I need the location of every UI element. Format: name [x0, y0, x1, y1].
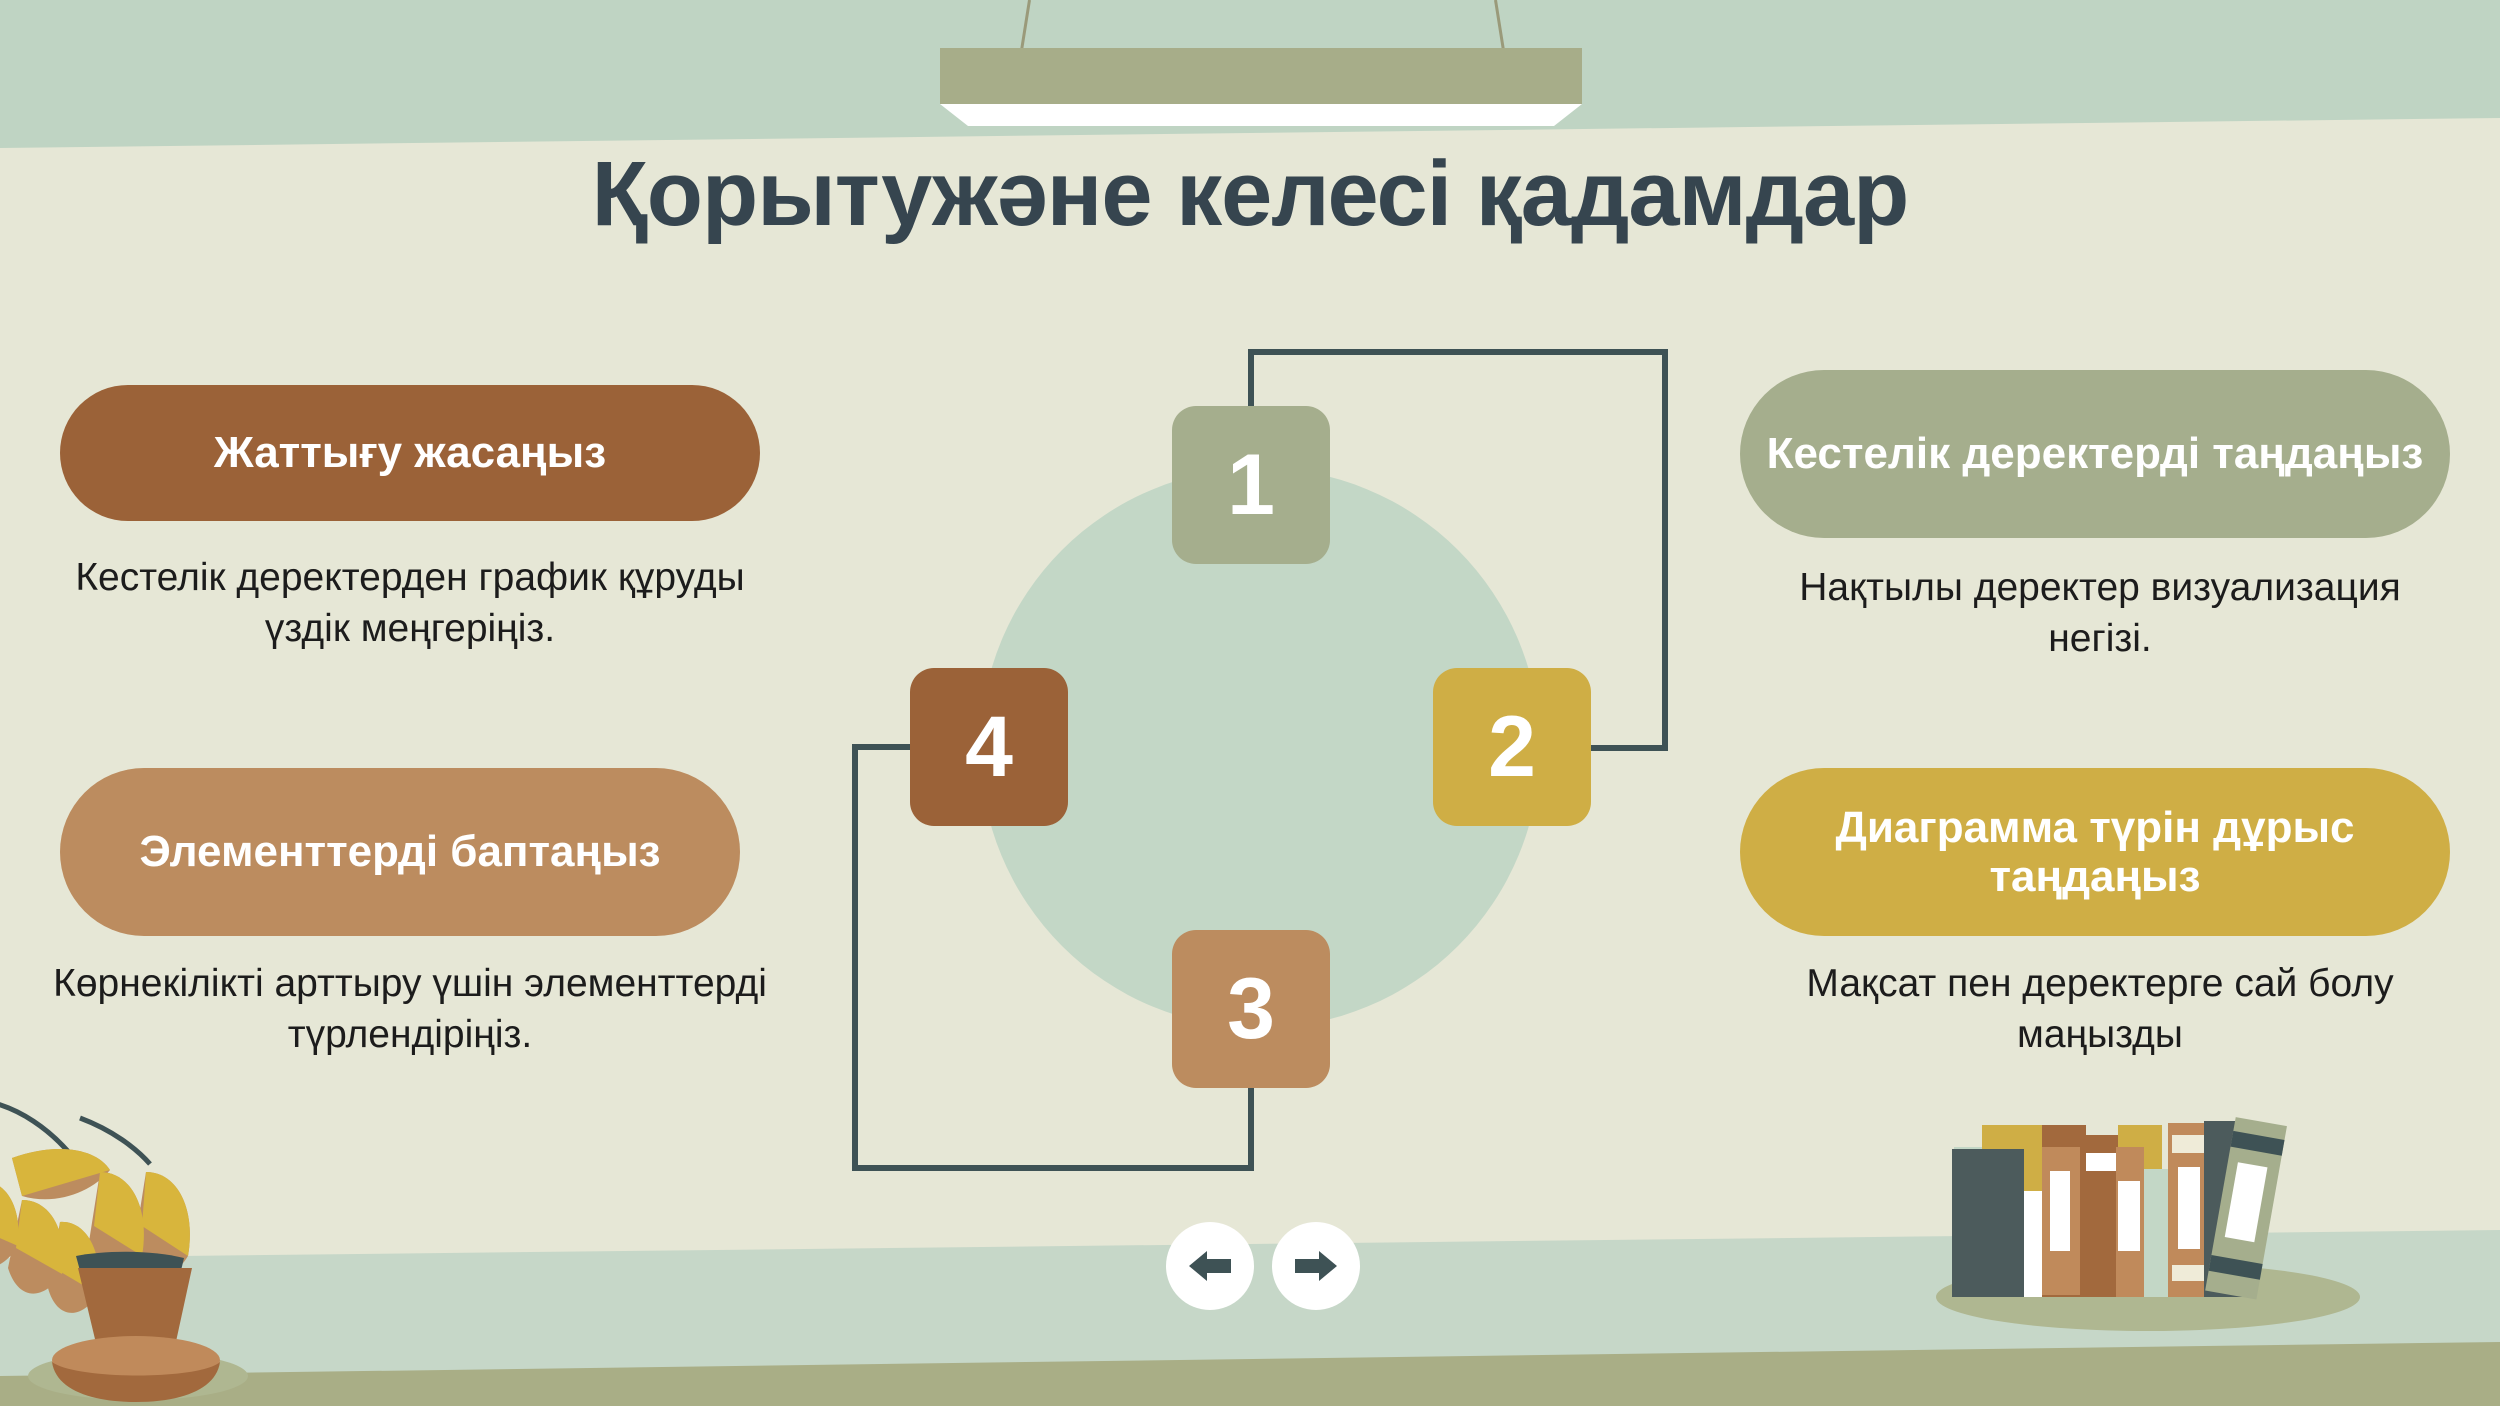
- lamp-glow: [940, 104, 1582, 126]
- step-pill-select-data[interactable]: Кестелік деректерді таңдаңыз: [1740, 370, 2450, 538]
- hanging-lamp-icon: [880, 0, 1640, 120]
- prev-slide-button[interactable]: [1166, 1222, 1254, 1310]
- books-icon: [1890, 1085, 2410, 1385]
- slide-canvas: Қорытужәне келесі қадамдар Жаттығу жасаң…: [0, 0, 2500, 1406]
- step-description-practice: Кестелік деректерден график құруды үздік…: [40, 552, 780, 655]
- arrow-left-icon: [1187, 1249, 1233, 1283]
- step-description-customize: Көрнекілікті арттыру үшін элементтерді т…: [40, 958, 780, 1061]
- potted-plant-icon: [0, 1060, 320, 1406]
- next-slide-button[interactable]: [1272, 1222, 1360, 1310]
- step-number-2[interactable]: 2: [1433, 668, 1591, 826]
- arrow-right-icon: [1293, 1249, 1339, 1283]
- step-description-choose-chart: Мақсат пен деректерге сай болу маңызды: [1760, 958, 2440, 1061]
- step-description-select-data: Нақтылы деректер визуализация негізі.: [1760, 562, 2440, 665]
- lamp-body: [940, 48, 1582, 104]
- page-title: Қорытужәне келесі қадамдар: [0, 142, 2500, 247]
- step-pill-customize[interactable]: Элементтерді баптаңыз: [60, 768, 740, 936]
- step-number-1[interactable]: 1: [1172, 406, 1330, 564]
- step-pill-choose-chart[interactable]: Диаграмма түрін дұрыс таңдаңыз: [1740, 768, 2450, 936]
- step-pill-practice[interactable]: Жаттығу жасаңыз: [60, 385, 760, 521]
- step-number-3[interactable]: 3: [1172, 930, 1330, 1088]
- cycle-diagram: 1 2 3 4: [820, 320, 1700, 1200]
- step-number-4[interactable]: 4: [910, 668, 1068, 826]
